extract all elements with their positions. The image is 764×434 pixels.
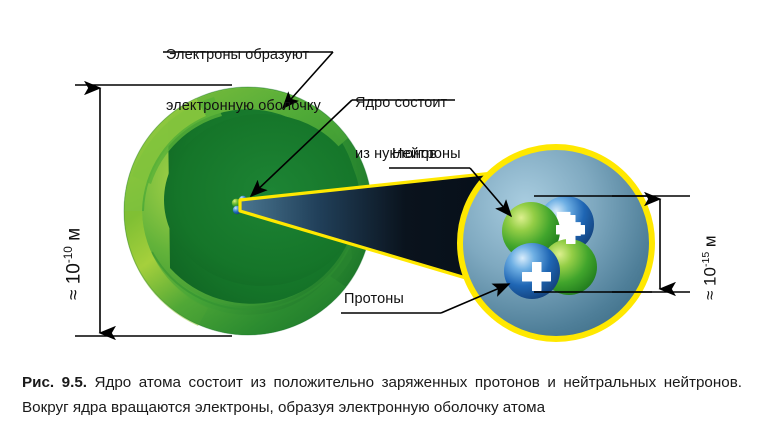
dimension-label-atom-size: ≈ 10-10 м (62, 228, 85, 300)
label-protons: Протоны (344, 291, 404, 308)
dim-nucleus-approx: ≈ 10 (701, 267, 720, 300)
figure-caption: Рис. 9.5. Ядро атома состоит из положите… (0, 356, 764, 434)
label-nucleus-nucleons: Ядро состоит из нуклонов (355, 61, 447, 197)
caption-text: Ядро атома состоит из положительно заряж… (22, 374, 742, 416)
label-electrons-line2: электронную оболочку (166, 98, 321, 115)
label-neutrons: Нейтроны (392, 146, 461, 163)
label-electrons-line1: Электроны образуют (166, 47, 321, 64)
label-nucleus-line1: Ядро состоит (355, 95, 447, 112)
dim-nucleus-unit: м (701, 235, 720, 251)
nucleon-group (502, 196, 597, 299)
caption-number: Рис. 9.5. (22, 374, 87, 391)
dim-atom-exponent: -10 (62, 246, 75, 263)
dim-atom-unit: м (63, 228, 84, 246)
dim-atom-approx: ≈ 10 (63, 263, 84, 300)
dimension-label-nucleus-size: ≈ 10-15 м (700, 235, 721, 300)
figure-atom-diagram: Электроны образуют электронную оболочку … (0, 0, 764, 356)
label-electrons: Электроны образуют электронную оболочку (166, 13, 321, 149)
nucleus-magnified (460, 147, 652, 339)
dim-nucleus-exponent: -15 (700, 252, 712, 267)
